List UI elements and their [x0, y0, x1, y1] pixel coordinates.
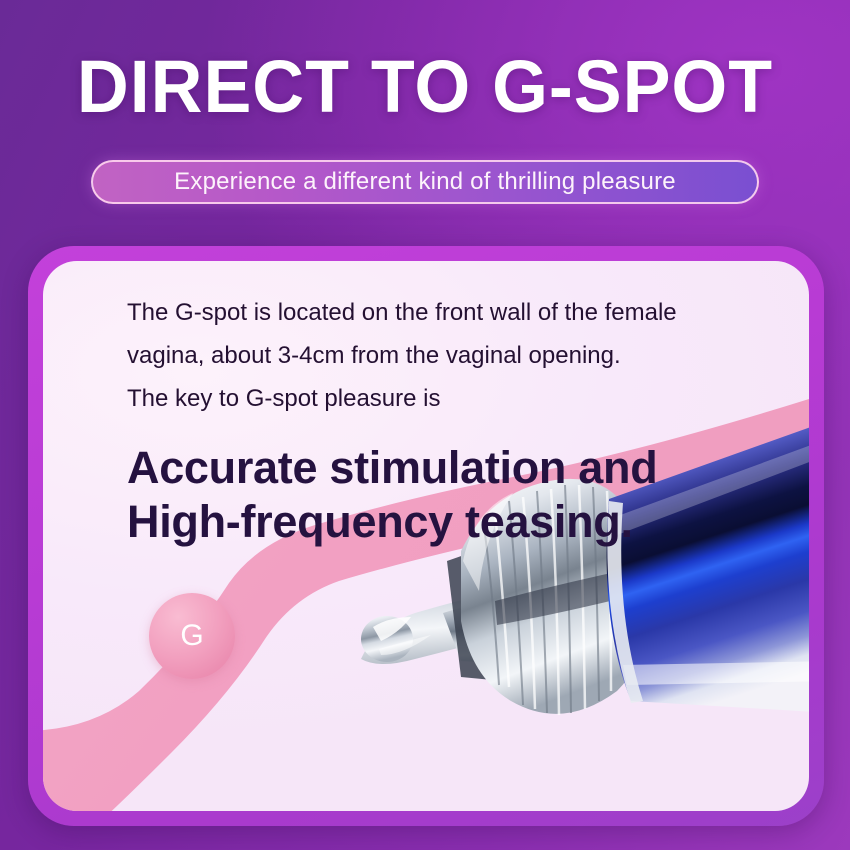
card-headline: Accurate stimulation and High-frequency …: [127, 441, 787, 549]
headline-line-2: High-frequency teasing.: [127, 495, 787, 549]
body-line-3: The key to G-spot pleasure is: [127, 377, 767, 420]
headline-line-1: Accurate stimulation and: [127, 441, 787, 495]
g-spot-marker-label: G: [180, 621, 203, 651]
subtitle-label: Experience a different kind of thrilling…: [174, 170, 676, 194]
info-card: The G-spot is located on the front wall …: [28, 246, 824, 826]
body-line-2: vagina, about 3-4cm from the vaginal ope…: [127, 334, 767, 377]
promo-banner: DIRECT TO G-SPOT Experience a different …: [0, 0, 850, 850]
page-title: DIRECT TO G-SPOT: [13, 44, 838, 130]
collar-shape: [447, 547, 503, 681]
body-line-1: The G-spot is located on the front wall …: [127, 291, 767, 334]
g-spot-marker: G: [149, 593, 235, 679]
subtitle-pill: Experience a different kind of thrilling…: [91, 160, 759, 204]
body-copy: The G-spot is located on the front wall …: [127, 291, 767, 420]
info-card-inner: The G-spot is located on the front wall …: [43, 261, 809, 811]
